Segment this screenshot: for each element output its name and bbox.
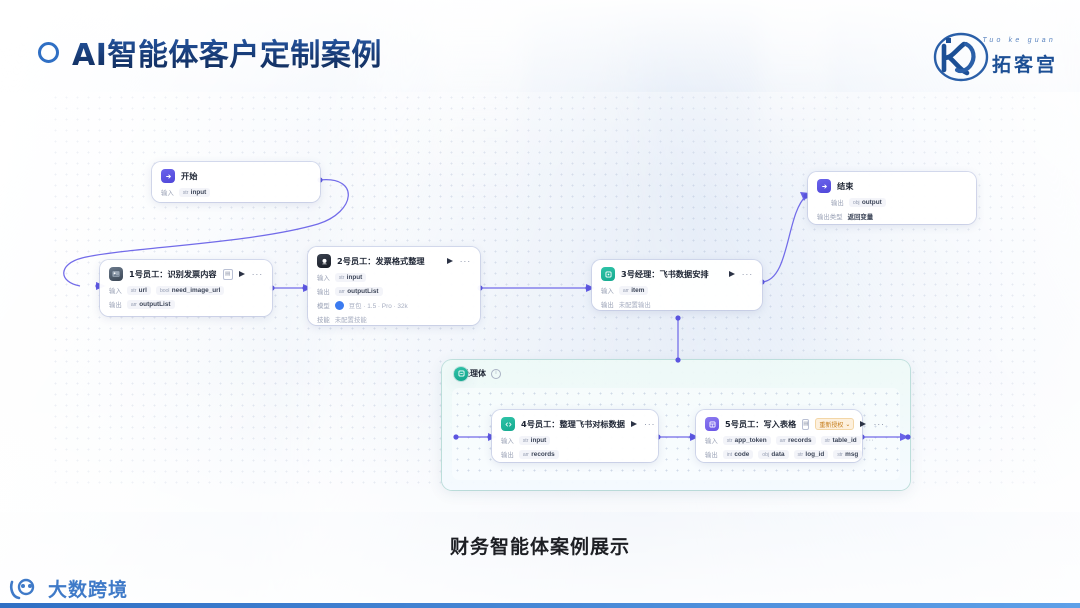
var-tag: strinput	[179, 188, 211, 197]
status-badge-label: 重新授权	[819, 420, 843, 429]
var-name: app_token	[735, 437, 767, 444]
var-type: arr	[131, 302, 137, 308]
node-emp5-header: 5号员工：写入表格 ▤ 重新授权 ⌄ ···	[705, 417, 853, 431]
label-input: 输入	[161, 188, 174, 197]
var-type: str	[825, 438, 830, 444]
node-emp4-title: 4号员工：整理飞书对标数据	[521, 418, 625, 430]
var-name: input	[191, 189, 207, 196]
node-start-title: 开始	[181, 170, 197, 182]
var-type: arr	[523, 452, 529, 458]
var-name: output	[862, 199, 882, 206]
node-menu-button[interactable]: ···	[460, 257, 471, 266]
slide-caption: 财务智能体案例展示	[0, 532, 1080, 559]
node-mgr3-title: 3号经理：飞书数据安排	[621, 268, 709, 280]
var-name: records	[788, 437, 811, 444]
doubao-model-icon	[335, 301, 344, 310]
code-icon	[501, 417, 515, 431]
node-emp2-model-row: 模型 豆包 · 1.5 · Pro · 32k	[317, 301, 471, 310]
node-emp1-title: 1号员工：识别发票内容	[129, 268, 217, 280]
label-input: 输入	[109, 286, 122, 295]
node-emp2-header: 2号员工：发票格式整理 ···	[317, 254, 471, 268]
var-tag: strinput	[335, 273, 367, 282]
node-emp5-output-row: 输出 intcode objdata strlog_id strmsg	[705, 450, 853, 459]
var-type: str	[798, 452, 803, 458]
var-tag: arrrecords	[519, 450, 559, 459]
var-tag: strapp_token	[723, 436, 771, 445]
start-arrow-icon	[161, 169, 175, 183]
port-mgr3-bottom	[675, 315, 680, 320]
var-tag: strurl	[127, 286, 151, 295]
label-output: 输出	[109, 300, 122, 309]
node-mgr3-input-row: 输入 arritem	[601, 286, 753, 295]
node-emp2-output-row: 输出 arroutputList	[317, 287, 471, 296]
node-emp2-model-value: 豆包 · 1.5 · Pro · 32k	[349, 301, 408, 310]
label-skill: 技能	[317, 315, 330, 324]
node-emp1-header: 1号员工：识别发票内容 ▤ ···	[109, 267, 263, 281]
var-type: str	[837, 452, 842, 458]
slide-canvas: AI智能体客户定制案例 Tuo ke guan 拓客宫 批处理体 i	[0, 0, 1080, 608]
watermark: 大数跨境	[8, 575, 128, 602]
node-mgr3-output-value: 未配置输出	[619, 300, 651, 309]
var-type: str	[727, 438, 732, 444]
var-tag: strlog_id	[794, 450, 829, 459]
node-menu-button[interactable]: ···	[873, 420, 884, 429]
llm-agent-icon	[317, 254, 331, 268]
label-output-type: 输出类型	[817, 212, 843, 221]
var-tag: arroutputList	[127, 300, 175, 309]
node-emp4[interactable]: 4号员工：整理飞书对标数据 ··· 输入 strinput 输出 arrreco…	[492, 410, 658, 462]
node-emp5[interactable]: 5号员工：写入表格 ▤ 重新授权 ⌄ ··· 输入 strapp_token a…	[696, 410, 862, 462]
footer-bar	[0, 603, 1080, 608]
var-type: int	[727, 452, 732, 458]
node-emp2-actions: ···	[447, 257, 471, 266]
node-end-output-row: 输出 objoutput	[817, 198, 967, 207]
label-input: 输入	[501, 436, 514, 445]
node-emp1-input-row: 输入 strurl boolneed_image_url	[109, 286, 263, 295]
page-header: AI智能体客户定制案例	[38, 30, 382, 74]
node-emp5-actions: ···	[860, 420, 884, 429]
var-name: log_id	[805, 451, 824, 458]
label-input: 输入	[601, 286, 614, 295]
var-name: need_image_url	[172, 287, 221, 294]
batch-loop-icon	[601, 267, 615, 281]
var-tag: arroutputList	[335, 287, 383, 296]
port-emp2-in	[302, 285, 307, 290]
var-type: str	[523, 438, 528, 444]
node-emp4-actions: ···	[631, 420, 655, 429]
var-name: outputList	[139, 301, 170, 308]
var-tag: strinput	[519, 436, 551, 445]
node-emp2-input-row: 输入 strinput	[317, 273, 471, 282]
node-emp2[interactable]: 2号员工：发票格式整理 ··· 输入 strinput 输出 arroutput…	[308, 247, 480, 325]
var-type: arr	[339, 289, 345, 295]
node-start[interactable]: 开始 输入 strinput	[152, 162, 320, 202]
var-name: records	[531, 451, 554, 458]
var-type: str	[339, 275, 344, 281]
label-model: 模型	[317, 301, 330, 310]
node-mgr3[interactable]: 3号经理：飞书数据安排 ··· 输入 arritem 输出 未配置输出	[592, 260, 762, 310]
label-output: 输出	[831, 198, 844, 207]
var-tag: objoutput	[849, 198, 886, 207]
node-emp4-input-row: 输入 strinput	[501, 436, 649, 445]
label-output: 输出	[601, 300, 614, 309]
copy-icon[interactable]: ▤	[223, 269, 233, 280]
var-tag: arritem	[619, 286, 649, 295]
brand-pinyin: Tuo ke guan	[982, 37, 1056, 44]
panda-logo-icon	[8, 576, 42, 602]
node-emp1-actions: ···	[239, 270, 263, 279]
var-tag: boolneed_image_url	[156, 286, 225, 295]
port-batch-out	[905, 434, 910, 439]
chevron-down-icon: ⌄	[845, 421, 850, 428]
run-node-button[interactable]	[631, 421, 637, 427]
var-tag: strmsg	[833, 450, 862, 459]
label-input: 输入	[317, 273, 330, 282]
image-recognition-icon	[109, 267, 123, 281]
node-emp4-output-row: 输出 arrrecords	[501, 450, 649, 459]
node-emp1[interactable]: 1号员工：识别发票内容 ▤ ··· 输入 strurl boolneed_ima…	[100, 260, 272, 316]
node-end[interactable]: 结束 输出 objoutput 输出类型 返回变量	[808, 172, 976, 224]
node-emp4-header: 4号员工：整理飞书对标数据 ···	[501, 417, 649, 431]
node-end-output-type-row: 输出类型 返回变量	[817, 212, 967, 221]
label-output: 输出	[317, 287, 330, 296]
var-name: msg	[845, 451, 858, 458]
var-name: outputList	[347, 288, 378, 295]
var-type: arr	[780, 438, 786, 444]
node-end-title: 结束	[837, 180, 853, 192]
node-mgr3-output-row: 输出 未配置输出	[601, 300, 753, 309]
node-start-input-row: 输入 strinput	[161, 188, 311, 197]
var-type: obj	[762, 452, 769, 458]
var-type: bool	[160, 288, 169, 294]
var-type: str	[183, 190, 188, 196]
var-tag: intcode	[723, 450, 754, 459]
node-menu-button[interactable]: ···	[644, 420, 655, 429]
node-end-header: 结束	[817, 179, 967, 193]
label-input: 输入	[705, 436, 718, 445]
var-type: str	[131, 288, 136, 294]
var-type: obj	[853, 200, 860, 206]
var-name: code	[734, 451, 749, 458]
label-output: 输出	[501, 450, 514, 459]
node-emp2-skill-value: 未配置技能	[335, 315, 367, 324]
run-node-button[interactable]	[729, 271, 735, 277]
status-badge-reauthorize[interactable]: 重新授权 ⌄	[815, 418, 854, 430]
brand-logo: Tuo ke guan 拓客宫	[926, 24, 1062, 90]
circle-outline-icon	[38, 42, 59, 63]
watermark-text: 大数跨境	[48, 575, 128, 602]
node-emp5-title: 5号员工：写入表格	[725, 418, 796, 430]
var-name: table_id	[832, 437, 856, 444]
port-batch-in	[453, 434, 458, 439]
var-name: url	[139, 287, 147, 294]
label-output: 输出	[705, 450, 718, 459]
node-end-output-type-value: 返回变量	[848, 212, 874, 221]
node-emp1-output-row: 输出 arroutputList	[109, 300, 263, 309]
port-emp5-in	[689, 434, 694, 439]
node-emp5-input-row: 输入 strapp_token arrrecords strtable_id ·…	[705, 436, 853, 445]
run-node-button[interactable]	[239, 271, 245, 277]
var-name: input	[347, 274, 363, 281]
end-arrow-icon	[817, 179, 831, 193]
feishu-table-icon	[705, 417, 719, 431]
node-menu-button[interactable]: ···	[742, 270, 753, 279]
port-batch-top	[675, 357, 680, 362]
input-overflow-button[interactable]: ···	[866, 437, 875, 444]
workflow-canvas[interactable]: 批处理体 i	[0, 92, 1080, 512]
node-emp2-title: 2号员工：发票格式整理	[337, 255, 425, 267]
var-tag: strtable_id	[821, 436, 861, 445]
node-start-header: 开始	[161, 169, 311, 183]
node-mgr3-actions: ···	[729, 270, 753, 279]
copy-icon[interactable]: ▤	[802, 419, 809, 430]
run-node-button[interactable]	[860, 421, 866, 427]
port-mgr3-in	[585, 285, 590, 290]
var-name: input	[531, 437, 547, 444]
node-emp2-skill-row: 技能 未配置技能	[317, 315, 471, 324]
brand-name: 拓客宫	[992, 50, 1058, 77]
node-mgr3-header: 3号经理：飞书数据安排 ···	[601, 267, 753, 281]
var-tag: arrrecords	[776, 436, 816, 445]
var-name: data	[771, 451, 784, 458]
var-type: arr	[623, 288, 629, 294]
run-node-button[interactable]	[447, 258, 453, 264]
var-tag: objdata	[758, 450, 788, 459]
node-menu-button[interactable]: ···	[252, 270, 263, 279]
var-name: item	[631, 287, 644, 294]
page-title: AI智能体客户定制案例	[72, 30, 382, 74]
